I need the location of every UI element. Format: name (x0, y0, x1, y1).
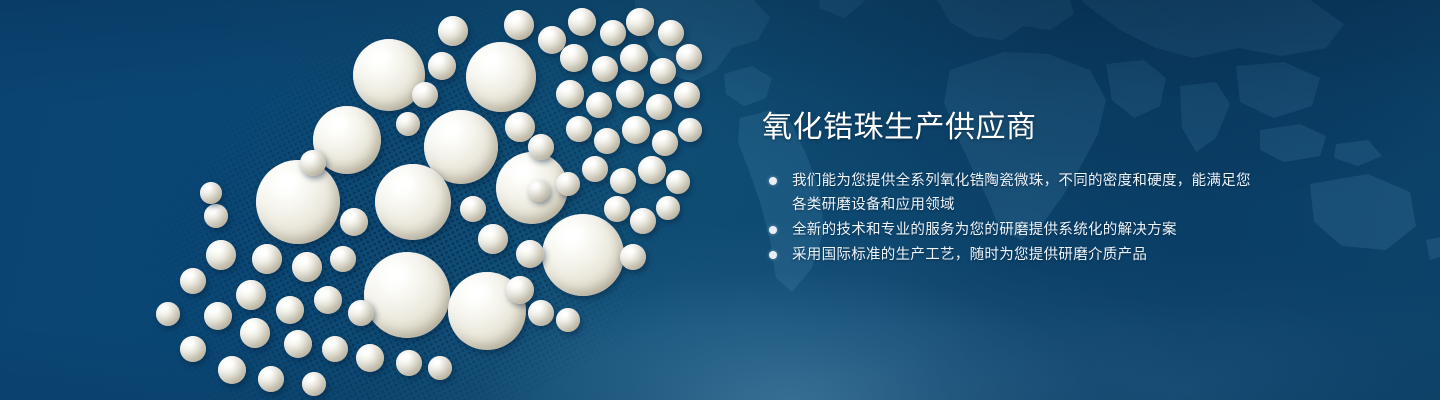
bullet-dot-icon (769, 226, 777, 234)
list-item: 采用国际标准的生产工艺，随时为您提供研磨介质产品 (762, 243, 1262, 267)
bullet-text: 全新的技术和专业的服务为您的研磨提供系统化的解决方案 (792, 218, 1262, 242)
list-item: 我们能为您提供全系列氧化锆陶瓷微珠，不同的密度和硬度，能满足您各类研磨设备和应用… (762, 169, 1262, 217)
list-item: 全新的技术和专业的服务为您的研磨提供系统化的解决方案 (762, 218, 1262, 242)
banner-text-block: 氧化锆珠生产供应商 我们能为您提供全系列氧化锆陶瓷微珠，不同的密度和硬度，能满足… (762, 108, 1262, 268)
hero-banner: 氧化锆珠生产供应商 我们能为您提供全系列氧化锆陶瓷微珠，不同的密度和硬度，能满足… (0, 0, 1440, 400)
bullet-text: 采用国际标准的生产工艺，随时为您提供研磨介质产品 (792, 243, 1262, 267)
bullet-dot-icon (769, 251, 777, 259)
bullet-dot-icon (769, 177, 777, 185)
banner-headline: 氧化锆珠生产供应商 (762, 108, 1262, 148)
bullet-text: 我们能为您提供全系列氧化锆陶瓷微珠，不同的密度和硬度，能满足您各类研磨设备和应用… (792, 169, 1262, 217)
banner-feature-list: 我们能为您提供全系列氧化锆陶瓷微珠，不同的密度和硬度，能满足您各类研磨设备和应用… (762, 169, 1262, 267)
